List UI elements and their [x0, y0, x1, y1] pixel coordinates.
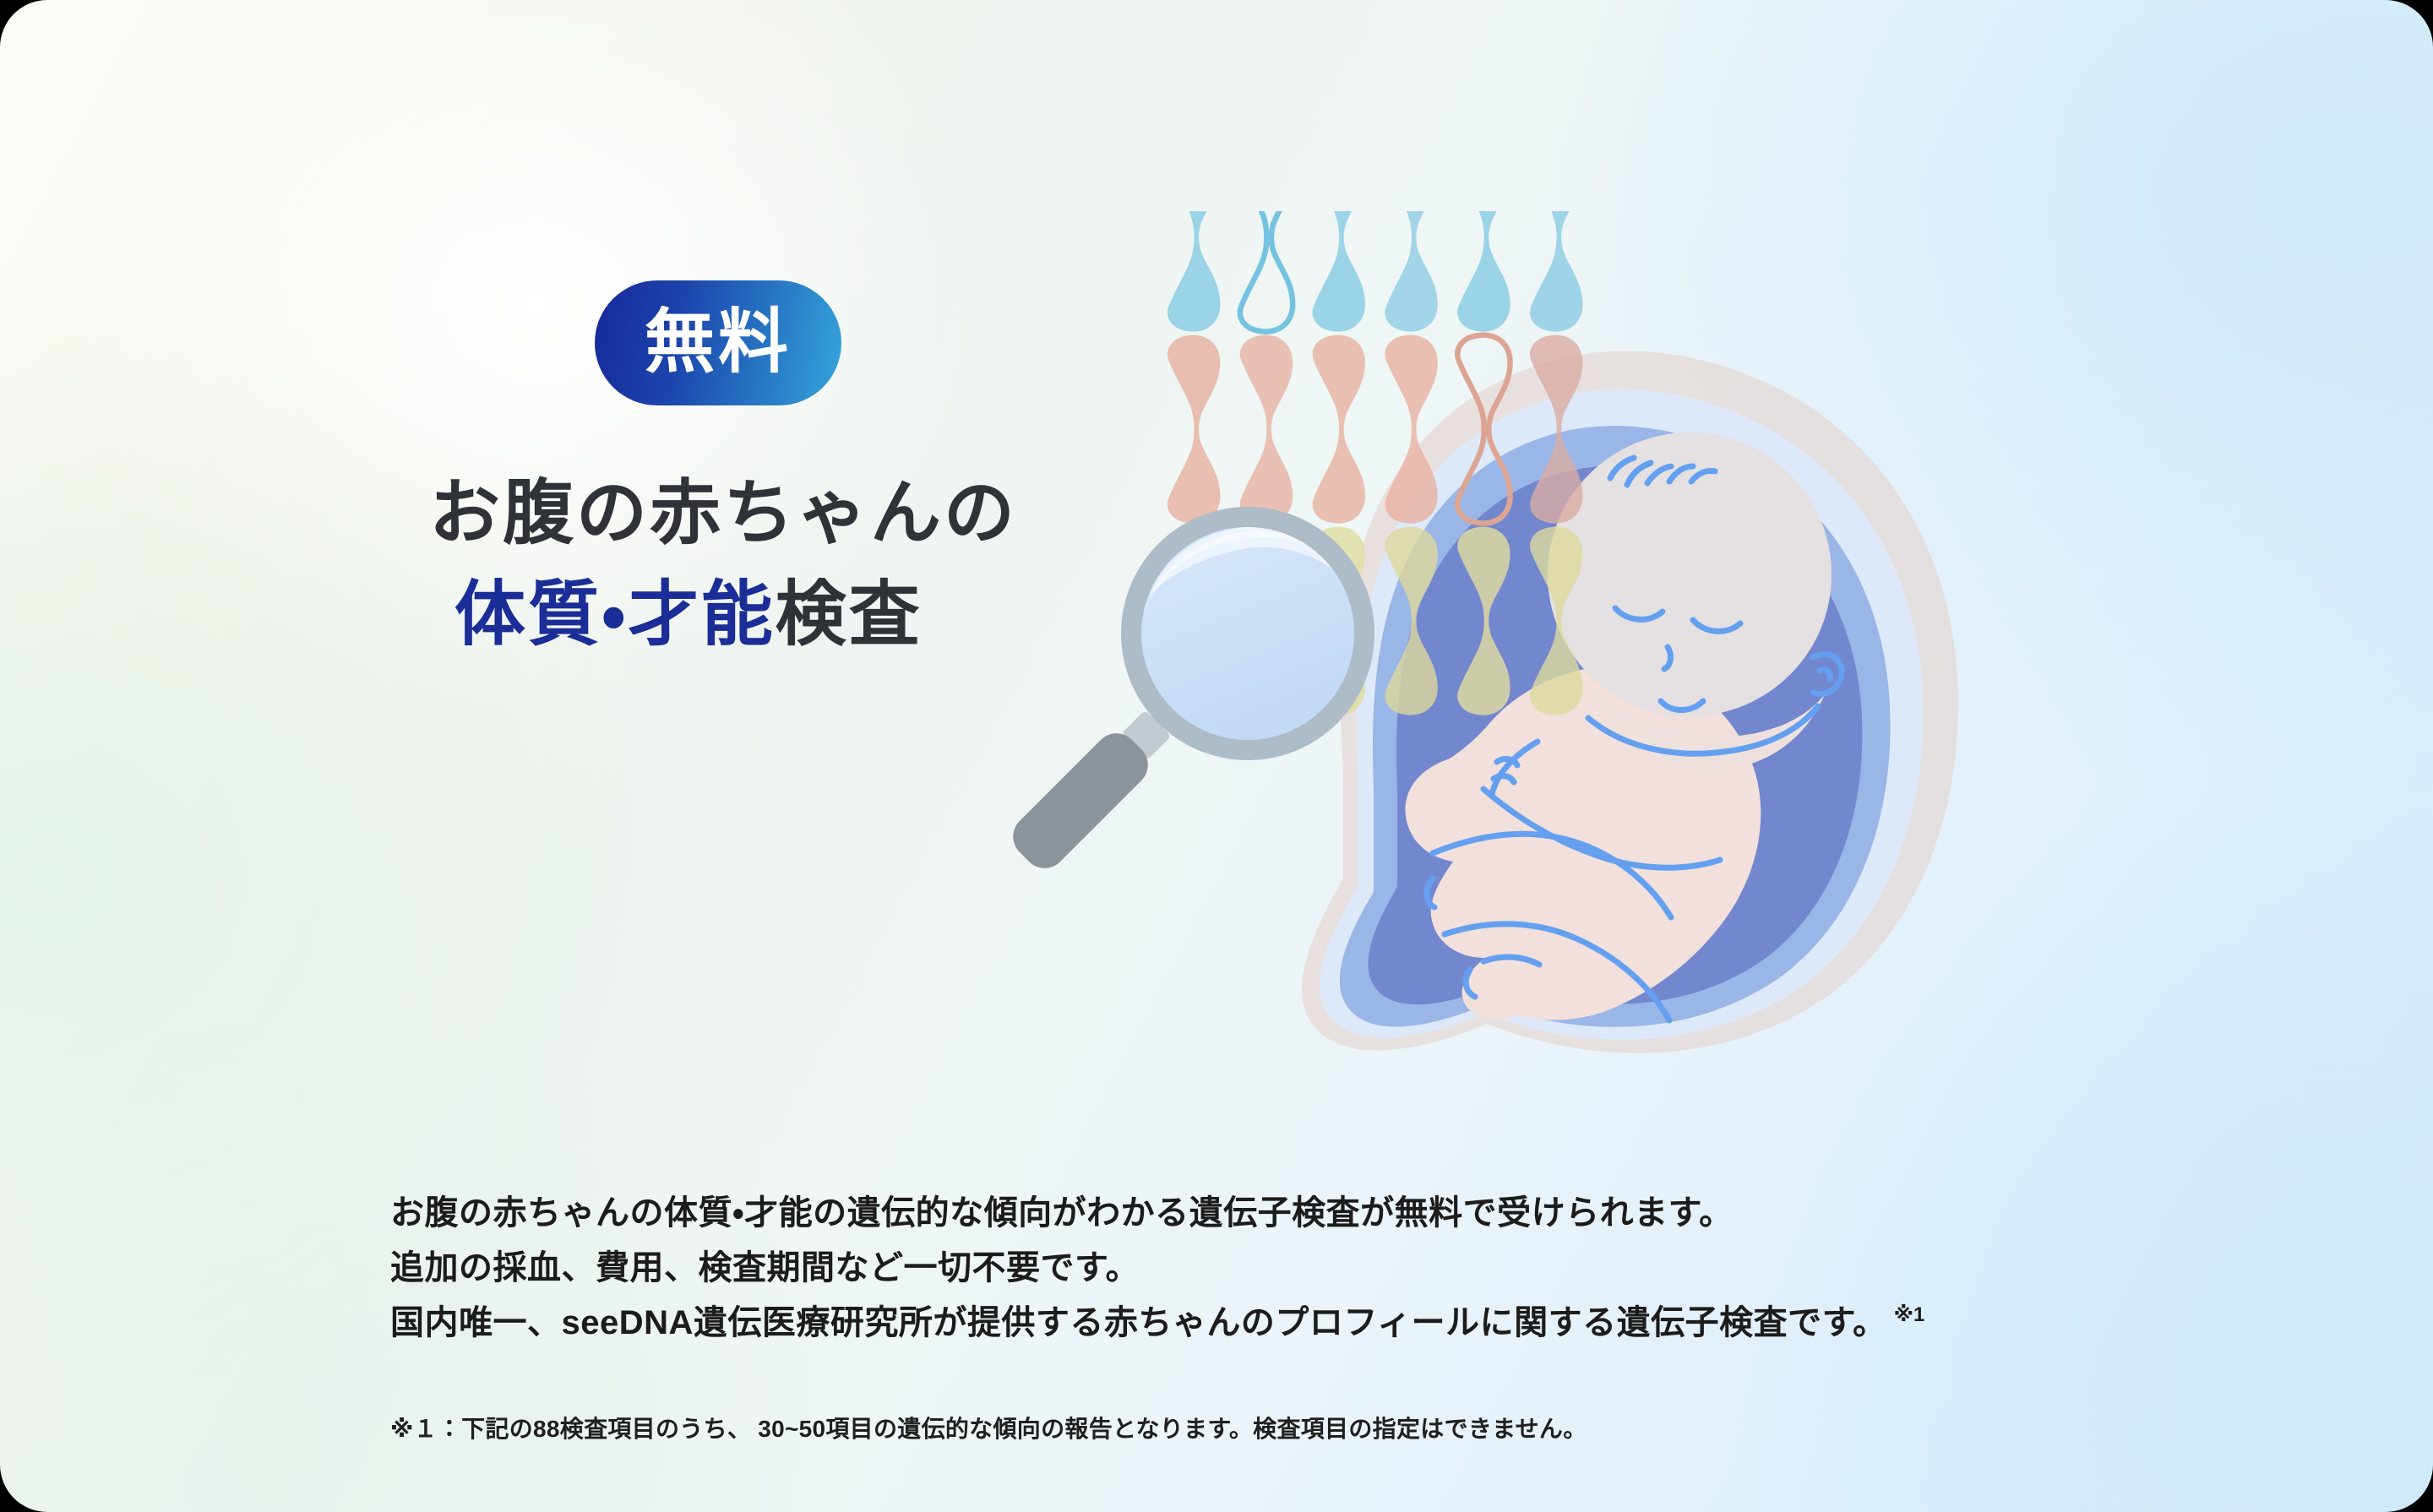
description-block: お腹の赤ちゃんの体質・才能の遺伝的な傾向がわかる遺伝子検査が無料で受けられます。… [390, 1186, 2181, 1350]
free-badge: 無料 [595, 280, 841, 405]
chromosome [1385, 211, 1437, 332]
free-badge-label: 無料 [645, 307, 792, 377]
headline-line-1: お腹の赤ちゃんの [429, 473, 1017, 552]
chromosome-outlined [1240, 211, 1293, 332]
description-line-2: 追加の採血、費用、検査期間など一切不要です。 [390, 1241, 2181, 1296]
chromosome [1530, 211, 1582, 332]
headline-highlight: 体質・才能 [454, 574, 776, 654]
chromosome [1168, 335, 1220, 524]
chromosome [1240, 335, 1293, 524]
description-line-1: お腹の赤ちゃんの体質・才能の遺伝的な傾向がわかる遺伝子検査が無料で受けられます。 [390, 1186, 2181, 1241]
description-line-3: 国内唯一、seeDNA遺伝医療研究所が提供する赤ちゃんのプロフィールに関する遺伝… [390, 1296, 2181, 1351]
footnote-marker: ※1 [1894, 1303, 1925, 1326]
footnote: ※１：下記の88検査項目のうち、 30~50項目の遺伝的な傾向の報告となります。… [390, 1412, 2181, 1445]
chromosome-row-1 [1168, 211, 1582, 332]
genetic-test-illustration [946, 211, 2061, 1157]
chromosome [1385, 335, 1437, 524]
headline-line-2-rest: 検査 [776, 574, 923, 654]
chromosome [1313, 335, 1365, 524]
chromosome [1168, 211, 1220, 332]
promo-card: 無料 お腹の赤ちゃんの 体質・才能検査 お腹の赤ちゃんの体質・才能の遺伝的な傾向… [0, 0, 2433, 1512]
chromosome [1457, 211, 1510, 332]
page-title: お腹の赤ちゃんの 体質・才能検査 [429, 463, 1139, 665]
chromosome [1313, 211, 1365, 332]
headline-line-2: 体質・才能検査 [454, 564, 923, 665]
description-line-3-text: 国内唯一、seeDNA遺伝医療研究所が提供する赤ちゃんのプロフィールに関する遺伝… [390, 1304, 1887, 1341]
